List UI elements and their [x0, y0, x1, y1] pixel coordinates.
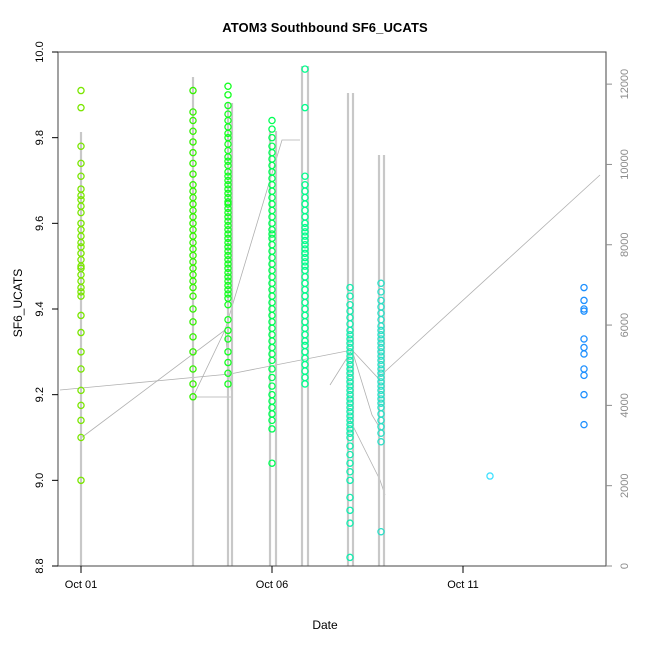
data-point[interactable]	[581, 351, 587, 357]
data-point[interactable]	[581, 392, 587, 398]
y2-tick-label: 4000	[619, 393, 631, 417]
y2-tick-label: 0	[619, 563, 631, 569]
data-point[interactable]	[487, 473, 493, 479]
data-point[interactable]	[581, 336, 587, 342]
x-tick-label: Oct 06	[256, 579, 288, 591]
y-tick-label: 9.8	[34, 130, 46, 145]
y-tick-label: 10.0	[34, 41, 46, 62]
data-point[interactable]	[581, 297, 587, 303]
y-tick-label: 9.0	[34, 473, 46, 488]
y2-tick-label: 6000	[619, 313, 631, 337]
plot-root: ATOM3 Southbound SF6_UCATS Date SF6_UCAT…	[0, 0, 650, 650]
profile-connector-lines	[60, 140, 600, 495]
connector-line-3	[330, 350, 381, 430]
y2-tick-label: 10000	[619, 149, 631, 180]
series-profile-09	[581, 284, 587, 427]
data-point[interactable]	[581, 372, 587, 378]
data-point[interactable]	[581, 366, 587, 372]
data-point[interactable]	[581, 344, 587, 350]
plot-canvas: 10.09.89.69.49.29.08.8120001000080006000…	[0, 0, 650, 650]
y2-tick-label: 12000	[619, 69, 631, 100]
data-point[interactable]	[581, 284, 587, 290]
x-tick-label: Oct 11	[447, 579, 479, 591]
data-point[interactable]	[225, 92, 231, 98]
data-point[interactable]	[269, 117, 275, 123]
data-point[interactable]	[78, 87, 84, 93]
y-tick-label: 9.4	[34, 301, 46, 316]
y2-tick-label: 2000	[619, 473, 631, 497]
data-points-layer	[78, 66, 587, 561]
axis-ticks-layer: 10.09.89.69.49.29.08.8120001000080006000…	[34, 41, 631, 591]
y-tick-label: 8.8	[34, 558, 46, 573]
profile-vertical-bars	[81, 66, 384, 566]
connector-line-2	[60, 175, 600, 390]
plot-border	[58, 52, 606, 566]
data-point[interactable]	[78, 105, 84, 111]
y-tick-label: 9.6	[34, 216, 46, 231]
plot-frame	[58, 52, 606, 566]
series-profile-08	[487, 473, 493, 479]
y-tick-label: 9.2	[34, 387, 46, 402]
data-point[interactable]	[225, 83, 231, 89]
data-point[interactable]	[269, 126, 275, 132]
y2-tick-label: 8000	[619, 233, 631, 257]
scatter-svg: 10.09.89.69.49.29.08.8120001000080006000…	[0, 0, 650, 650]
data-point[interactable]	[581, 422, 587, 428]
x-tick-label: Oct 01	[65, 579, 97, 591]
